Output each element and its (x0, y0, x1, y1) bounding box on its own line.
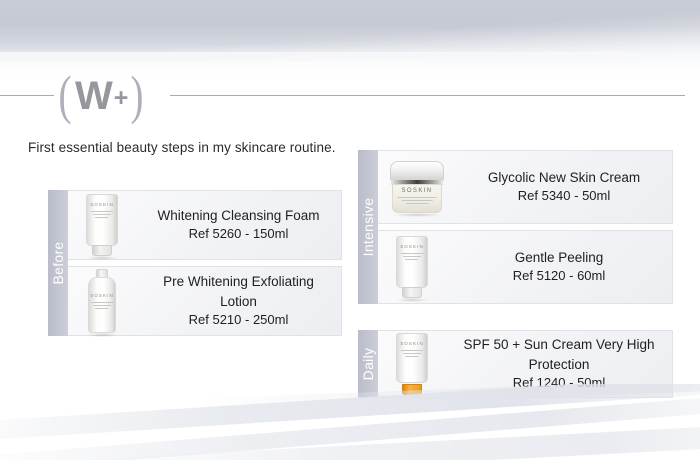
product-name: SPF 50 + Sun Cream Very High Protection (456, 335, 662, 374)
product-image-tube: SOSKIN (395, 236, 429, 298)
infographic-poster: ( W + ) First essential beauty steps in … (0, 0, 700, 460)
logo-paren-open-icon: ( (59, 68, 72, 122)
product-brand-label: SOSKIN (90, 202, 114, 207)
product-shadow (397, 298, 428, 302)
product-figure: SOSKIN (68, 269, 136, 333)
product-text: Whitening Cleansing FoamRef 5260 - 150ml (136, 206, 341, 244)
product-name: Whitening Cleansing Foam (146, 206, 331, 226)
package-lid (390, 161, 444, 181)
product-shadow (87, 256, 118, 260)
package-cap (92, 245, 112, 256)
group-card-list: SOSKINGlycolic New Skin CreamRef 5340 - … (378, 150, 673, 304)
product-brand-label: SOSKIN (90, 293, 114, 298)
product-brand-label: SOSKIN (400, 341, 424, 346)
product-shadow (87, 333, 118, 337)
product-shadow (393, 213, 442, 217)
product-card[interactable]: SOSKINGentle PeelingRef 5120 - 60ml (378, 230, 673, 304)
product-label-lines (91, 302, 113, 311)
product-image-tube: SOSKIN (85, 194, 119, 256)
product-text: Pre Whitening Exfoliating LotionRef 5210… (136, 272, 341, 330)
product-card[interactable]: SOSKINWhitening Cleansing FoamRef 5260 -… (68, 190, 342, 260)
product-name: Glycolic New Skin Cream (466, 168, 662, 188)
product-image-jar: SOSKIN (390, 161, 444, 213)
logo-row: ( W + ) (0, 72, 700, 118)
product-card[interactable]: SOSKINGlycolic New Skin CreamRef 5340 - … (378, 150, 673, 224)
package-cap (402, 287, 422, 298)
product-card[interactable]: SOSKINPre Whitening Exfoliating LotionRe… (68, 266, 342, 336)
product-reference: Ref 5210 - 250ml (146, 311, 331, 330)
group-tab-label: Intensive (360, 198, 376, 257)
product-label-lines (401, 350, 423, 359)
product-group-intensive: IntensiveSOSKINGlycolic New Skin CreamRe… (358, 150, 673, 304)
product-reference: Ref 5340 - 50ml (466, 187, 662, 206)
group-tab-before[interactable]: Before (48, 190, 68, 336)
bottom-ray-band (0, 384, 700, 460)
product-figure: SOSKIN (68, 194, 136, 256)
product-name: Gentle Peeling (456, 248, 662, 268)
logo-letter-w: W (75, 76, 112, 116)
divider-rule-left (0, 95, 54, 96)
product-reference: Ref 5120 - 60ml (456, 267, 662, 286)
divider-rule-right (170, 95, 685, 96)
product-group-before: BeforeSOSKINWhitening Cleansing FoamRef … (48, 190, 342, 336)
product-figure: SOSKIN (378, 236, 446, 298)
group-card-list: SOSKINWhitening Cleansing FoamRef 5260 -… (68, 190, 342, 336)
logo-paren-close-icon: ) (131, 68, 144, 122)
group-tab-intensive[interactable]: Intensive (358, 150, 378, 304)
product-figure: SOSKIN (378, 161, 456, 213)
w-plus-logo: ( W + ) (56, 72, 146, 118)
product-name: Pre Whitening Exfoliating Lotion (146, 272, 331, 311)
group-tab-label: Daily (360, 348, 376, 381)
product-text: Glycolic New Skin CreamRef 5340 - 50ml (456, 168, 672, 206)
product-image-bottle: SOSKIN (85, 269, 119, 333)
product-brand-label: SOSKIN (401, 188, 432, 194)
product-reference: Ref 5260 - 150ml (146, 225, 331, 244)
logo-plus-icon: + (114, 86, 129, 111)
product-brand-label: SOSKIN (400, 244, 424, 249)
product-label-lines (398, 197, 437, 206)
product-label-lines (401, 253, 423, 262)
page-title: First essential beauty steps in my skinc… (28, 140, 336, 155)
group-tab-label: Before (50, 241, 66, 284)
product-label-lines (91, 211, 113, 220)
product-text: Gentle PeelingRef 5120 - 60ml (446, 248, 672, 286)
